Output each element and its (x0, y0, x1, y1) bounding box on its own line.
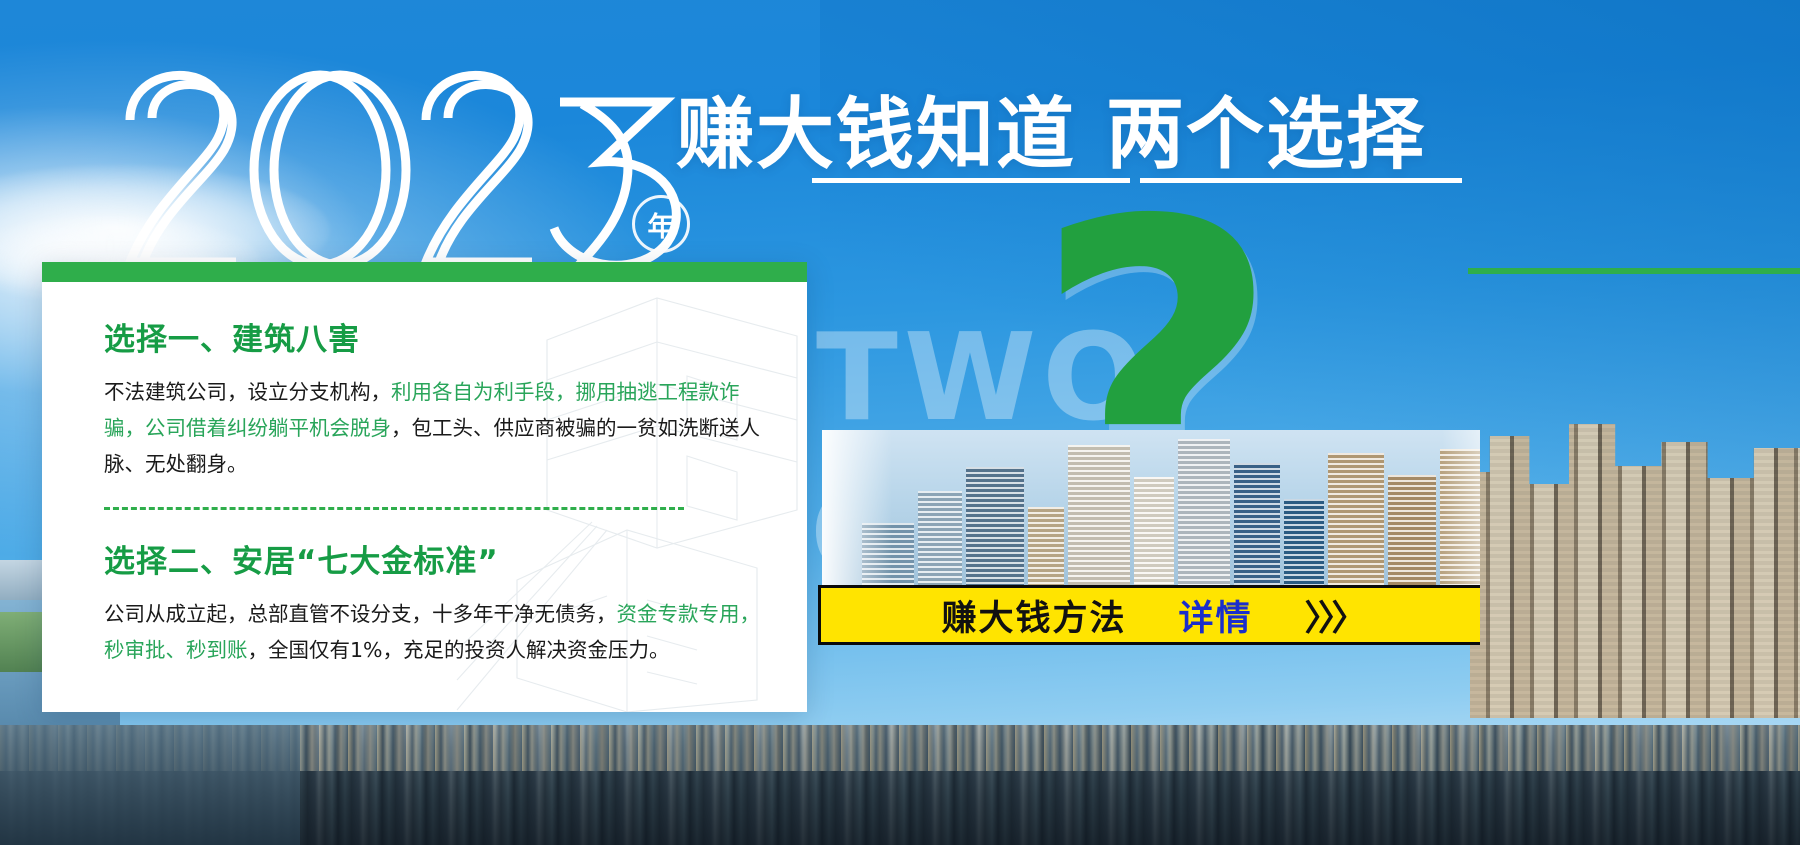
chevron-right-icon: 〉〉〉 (1305, 590, 1363, 641)
year-unit-badge: 年 (632, 195, 690, 253)
bottom-strip-left-shade (0, 725, 300, 845)
cta-banner[interactable]: 赚大钱方法 详情 〉〉〉 (818, 585, 1480, 645)
poster-stage: 年 赚大钱知道两个选择 (0, 0, 1800, 845)
city-skyline-photo (822, 430, 1480, 595)
section-1-seg-1: 不法建筑公司，设立分支机构， (104, 380, 391, 404)
card-body: 选择一、建筑八害 不法建筑公司，设立分支机构，利用各自为利手段，挪用抽逃工程款诈… (104, 314, 779, 702)
right-visual-panel: TWO CHOICES ? 赚大钱方法 详情 〉〉〉 (800, 185, 1480, 655)
card-top-accent-bar (42, 262, 807, 282)
section-2-seg-1: 公司从成立起，总部直管不设分支，十多年干净无债务， (104, 602, 617, 626)
page-title: 赚大钱知道两个选择 (676, 72, 1426, 184)
section-2-seg-3: ，全国仅有1%，充足的投资人解决资金压力。 (248, 638, 670, 662)
green-accent-rule (1468, 268, 1800, 274)
section-2-title: 选择二、安居“七大金标准” (104, 536, 779, 581)
section-divider (104, 507, 684, 510)
headline-part-1: 赚大钱知道 (676, 90, 1076, 180)
section-1-paragraph: 不法建筑公司，设立分支机构，利用各自为利手段，挪用抽逃工程款诈骗，公司借着纠纷躺… (104, 374, 779, 482)
cta-main-label: 赚大钱方法 (941, 590, 1126, 641)
section-2-paragraph: 公司从成立起，总部直管不设分支，十多年干净无债务，资金专款专用，秒审批、秒到账，… (104, 596, 779, 668)
content-card: 选择一、建筑八害 不法建筑公司，设立分支机构，利用各自为利手段，挪用抽逃工程款诈… (42, 262, 807, 712)
headline-part-2: 两个选择 (1106, 90, 1426, 180)
cta-detail-link[interactable]: 详情 (1178, 590, 1252, 641)
section-1-title: 选择一、建筑八害 (104, 314, 779, 359)
